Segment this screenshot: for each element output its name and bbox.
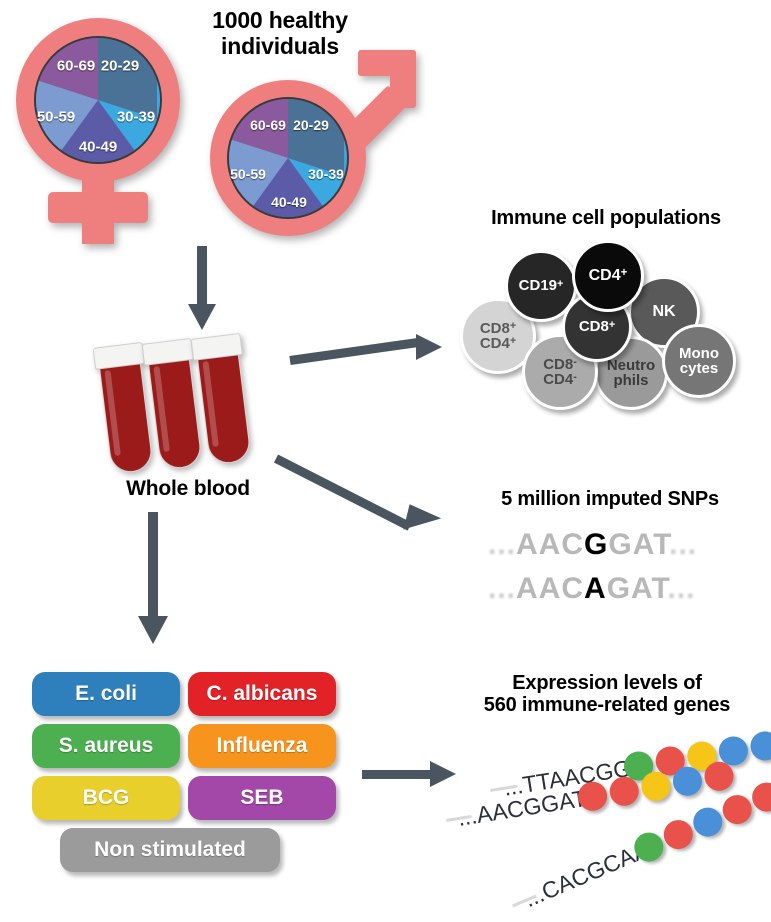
stimulation-seb[interactable]: SEB [188,776,336,820]
snp-left: AAC [516,572,584,605]
expression-heading: Expression levels of 560 immune-related … [448,672,766,717]
snp-variant: A [584,572,607,605]
immune-cell-label: CD8- CD4- [543,357,577,388]
female-age-label-30-39: 30-39 [117,109,155,126]
female-age-label-60-69: 60-69 [57,58,95,75]
stimulation-bcg[interactable]: BCG [32,776,180,820]
expression-heading-line2: 560 immune-related genes [448,694,766,716]
expression-heading-line1: Expression levels of [448,672,766,694]
expression-bead [689,803,727,841]
snp-suffix: ... [667,572,695,605]
expression-bead [671,765,704,798]
immune-cell-label: CD8+ [579,319,615,334]
immune-cell-label: CD19+ [519,278,564,293]
male-arrow-head [356,50,416,112]
expression-bead [608,775,641,808]
expression-bead [718,791,756,829]
snp-prefix: ... [488,528,516,561]
arrow-blood-to-stimulations [138,512,168,648]
snp-sequences: ...AACGGAT... ...AACAGAT... [470,528,760,624]
expression-bead [702,760,735,793]
strand-sequence: ...AACGGAT [456,785,589,832]
arrow-blood-to-snps [276,448,456,548]
expression-bead [659,816,697,854]
male-age-label-30-39: 30-39 [308,166,344,182]
immune-cell-cd4p: CD4+ [572,240,644,312]
immune-cell-cluster: CD8+ CD4+ CD19+ CD4+ CD8+ NK Mono cytes … [450,240,760,410]
male-age-label-20-29: 20-29 [293,117,329,133]
snp-right: GAT [608,528,669,561]
stimulation-e-coli[interactable]: E. coli [32,672,180,716]
snp-left: AAC [516,528,584,561]
snp-right: GAT [607,572,668,605]
snp-variant: G [584,528,608,561]
immune-cell-heading: Immune cell populations [446,207,766,229]
immune-cell-label: Neutro phils [607,358,655,389]
cohort-title-line1: 1000 healthy [170,8,390,34]
female-age-label-40-49: 40-49 [79,139,117,156]
blood-tubes [108,332,278,472]
blood-tube [195,333,252,465]
immune-cell-label: Mono cytes [679,346,719,377]
female-cross-bar [48,192,148,223]
stimulation-panel: E. coli C. albicans S. aureus Influenza … [32,672,342,892]
snp-suffix: ... [669,528,697,561]
female-symbol: 20-29 30-39 40-49 50-59 60-69 [8,14,188,244]
immune-cell-label: NK [652,304,675,320]
immune-cell-monocytes: Mono cytes [662,324,736,398]
snp-heading: 5 million imputed SNPs [455,488,765,510]
male-age-label-50-59: 50-59 [230,166,266,182]
expression-strands: ...TTAACGG ...AACGGAT ...CACGCAA [440,735,771,915]
male-symbol: 20-29 30-39 40-49 50-59 60-69 [208,48,426,238]
stimulation-c-albicans[interactable]: C. albicans [188,672,336,716]
expression-bead [639,770,672,803]
whole-blood-label: Whole blood [88,477,288,501]
immune-cell-label: CD8+ CD4+ [480,321,516,352]
snp-prefix: ... [488,572,516,605]
immune-cell-label: CD4+ [589,268,628,284]
snp-row: ...AACGGAT... [488,528,697,562]
snp-row: ...AACAGAT... [488,572,695,606]
stimulation-non-stimulated[interactable]: Non stimulated [60,828,280,872]
arrow-cohort-to-blood [188,246,216,330]
female-age-label-20-29: 20-29 [101,58,139,75]
male-age-label-60-69: 60-69 [250,117,286,133]
stimulation-s-aureus[interactable]: S. aureus [32,724,180,768]
stimulation-influenza[interactable]: Influenza [188,724,336,768]
arrow-blood-to-immune [290,330,450,378]
female-age-label-50-59: 50-59 [37,109,75,126]
male-age-label-40-49: 40-49 [271,194,307,210]
